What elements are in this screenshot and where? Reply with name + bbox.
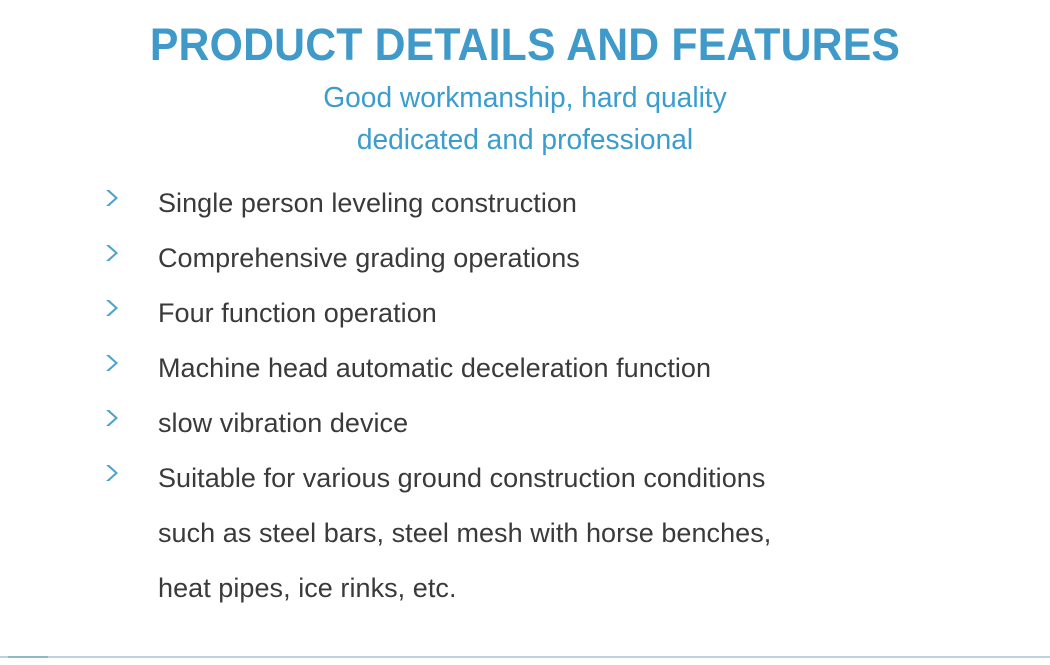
- feature-text: slow vibration device: [158, 396, 1050, 451]
- list-item: Suitable for various ground construction…: [0, 451, 1050, 616]
- chevron-right-icon: [103, 451, 127, 495]
- feature-text: Four function operation: [158, 286, 1050, 341]
- feature-text: Single person leveling construction: [158, 176, 1050, 231]
- subtitle-line-2: dedicated and professional: [16, 119, 1035, 161]
- footer-divider: [0, 656, 1050, 658]
- subtitle-block: Good workmanship, hard quality dedicated…: [0, 77, 1050, 161]
- chevron-right-icon: [103, 341, 127, 385]
- page-title: PRODUCT DETAILS AND FEATURES: [26, 0, 1024, 73]
- feature-text-continuation: such as steel bars, steel mesh with hors…: [158, 506, 1050, 561]
- list-item: Single person leveling construction: [0, 176, 1050, 231]
- heading-block: PRODUCT DETAILS AND FEATURES Good workma…: [0, 0, 1050, 161]
- chevron-right-icon: [103, 176, 127, 220]
- feature-text: Comprehensive grading operations: [158, 231, 1050, 286]
- subtitle-line-1: Good workmanship, hard quality: [16, 77, 1035, 119]
- list-item: Four function operation: [0, 286, 1050, 341]
- feature-text: Machine head automatic deceleration func…: [158, 341, 1050, 396]
- chevron-right-icon: [103, 286, 127, 330]
- list-item: Machine head automatic deceleration func…: [0, 341, 1050, 396]
- feature-list: Single person leveling construction Comp…: [0, 176, 1050, 616]
- chevron-right-icon: [103, 396, 127, 440]
- list-item: slow vibration device: [0, 396, 1050, 451]
- feature-text: Suitable for various ground construction…: [158, 451, 1050, 506]
- feature-text-continuation: heat pipes, ice rinks, etc.: [158, 561, 1050, 616]
- list-item: Comprehensive grading operations: [0, 231, 1050, 286]
- footer-divider-accent: [8, 656, 48, 658]
- product-features-slide: PRODUCT DETAILS AND FEATURES Good workma…: [0, 0, 1050, 665]
- chevron-right-icon: [103, 231, 127, 275]
